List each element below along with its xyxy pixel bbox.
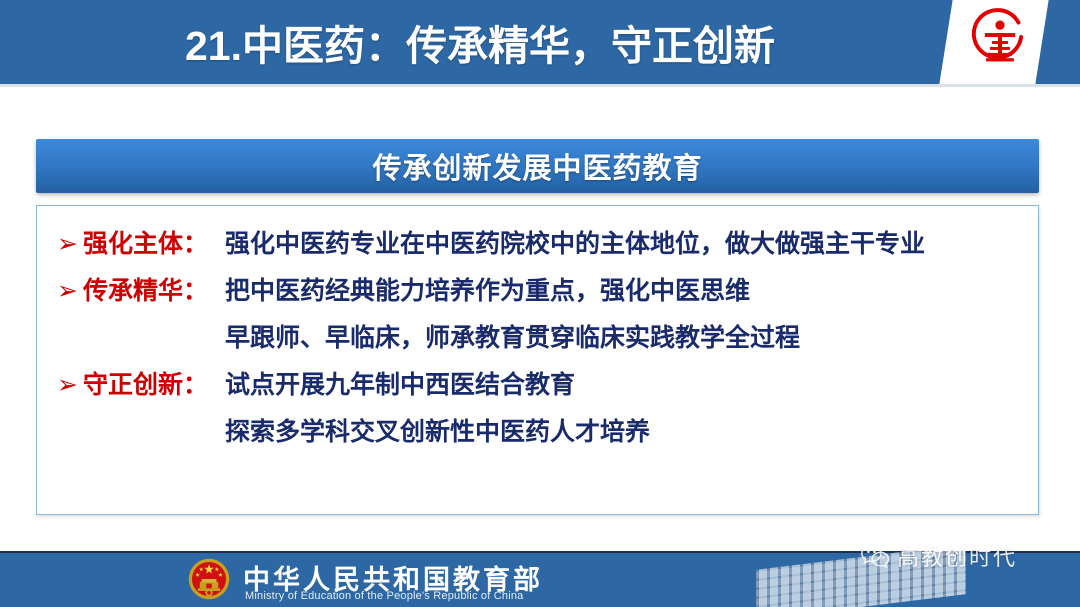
wechat-icon: [860, 541, 890, 571]
bullet-item: ➢守正创新：试点开展九年制中西医结合教育: [51, 363, 1026, 407]
content-box: ➢强化主体：强化中医药专业在中医药院校中的主体地位，做大做强主干专业➢传承精华：…: [36, 205, 1039, 515]
bullet-continuation-text: 早跟师、早临床，师承教育贯穿临床实践教学全过程: [225, 316, 1026, 360]
bullet-continuation-line: 探索多学科交叉创新性中医药人才培养: [51, 410, 1026, 454]
slide-canvas: 21.中医药：传承精华，守正创新 传承创新发展中医药教育 ➢强化主体：强化中医药…: [0, 0, 1080, 607]
ministry-name-en: Ministry of Education of the People's Re…: [245, 590, 523, 602]
section-header-bar: 传承创新发展中医药教育: [36, 139, 1039, 193]
bullet-arrow-icon: ➢: [51, 363, 83, 407]
bullet-text: 强化中医药专业在中医药院校中的主体地位，做大做强主干专业: [225, 222, 1026, 266]
bullet-arrow-icon: ➢: [51, 269, 83, 313]
tcm-circular-emblem-icon: [967, 8, 1033, 74]
bullet-continuation-line: 早跟师、早临床，师承教育贯穿临床实践教学全过程: [51, 316, 1026, 360]
bullet-list: ➢强化主体：强化中医药专业在中医药院校中的主体地位，做大做强主干专业➢传承精华：…: [51, 222, 1026, 457]
bullet-label: 强化主体：: [83, 222, 225, 266]
header-underline: [0, 84, 1080, 87]
bullet-continuation-text: 探索多学科交叉创新性中医药人才培养: [225, 410, 1026, 454]
bullet-text: 试点开展九年制中西医结合教育: [225, 363, 1026, 407]
slide-header: 21.中医药：传承精华，守正创新: [0, 0, 1080, 84]
bullet-item: ➢强化主体：强化中医药专业在中医药院校中的主体地位，做大做强主干专业: [51, 222, 1026, 266]
bullet-arrow-icon: ➢: [51, 222, 83, 266]
china-national-emblem-icon: [186, 556, 232, 602]
bullet-label: 传承精华：: [83, 269, 225, 313]
bullet-label: 守正创新：: [83, 363, 225, 407]
bullet-item: ➢传承精华：把中医药经典能力培养作为重点，强化中医思维: [51, 269, 1026, 313]
bullet-text: 把中医药经典能力培养作为重点，强化中医思维: [225, 269, 1026, 313]
wechat-watermark: 高教创时代: [860, 540, 1017, 572]
page-title: 21.中医药：传承精华，守正创新: [0, 0, 960, 84]
section-title: 传承创新发展中医药教育: [372, 145, 702, 187]
watermark-label: 高教创时代: [897, 540, 1017, 572]
